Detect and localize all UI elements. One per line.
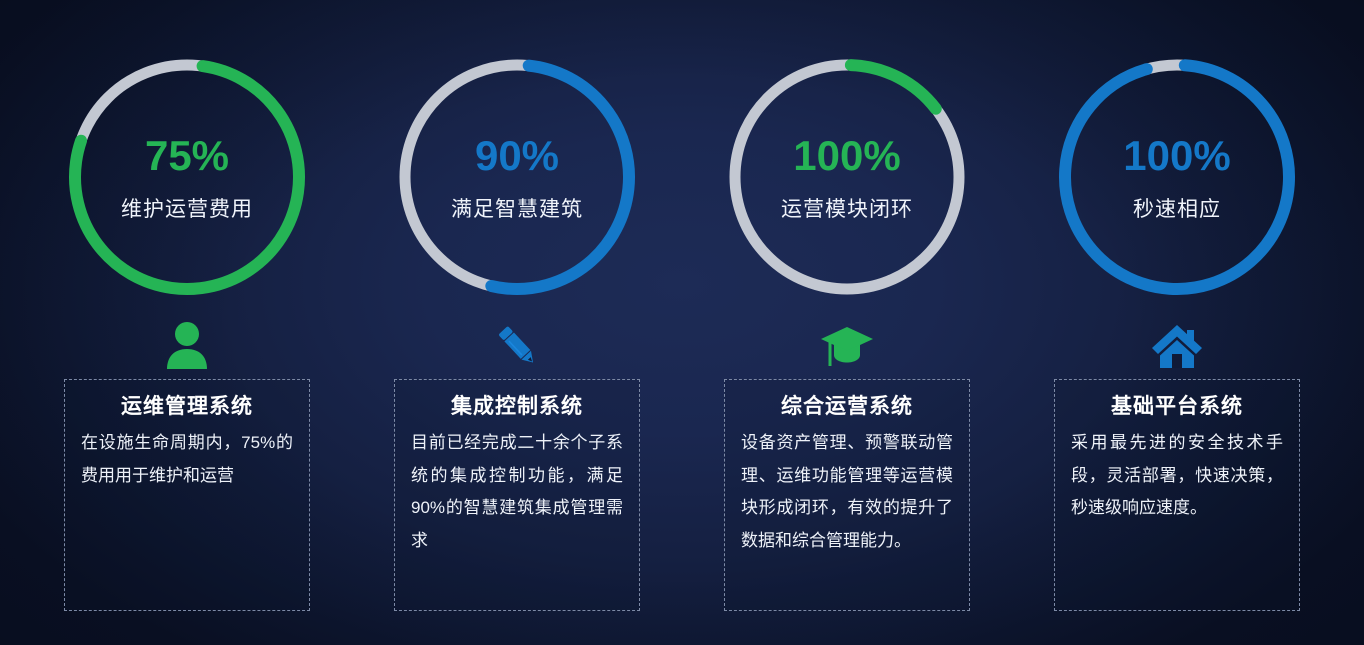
metric-percent-value: 100%: [793, 135, 900, 177]
user-icon: [164, 315, 210, 377]
info-card-comprehensive-operations: 综合运营系统 设备资产管理、预警联动管理、运维功能管理等运营模块形成闭环，有效的…: [724, 379, 970, 611]
donut-chart-comprehensive-operations: 100% 运营模块闭环: [723, 53, 971, 301]
metric-column-base-platform: 100% 秒速相应 基础平台系统 采用最先进的安全技术手段，灵活部署，快速决策，…: [1048, 0, 1306, 645]
metric-label: 满足智慧建筑: [451, 199, 583, 220]
info-card-title: 运维管理系统: [81, 394, 293, 419]
donut-center-content: 100% 运营模块闭环: [723, 53, 971, 301]
info-card-ops-maintenance: 运维管理系统 在设施生命周期内，75%的费用用于维护和运营: [64, 379, 310, 611]
donut-chart-base-platform: 100% 秒速相应: [1053, 53, 1301, 301]
pencil-icon: [492, 315, 542, 377]
metric-column-ops-maintenance: 75% 维护运营费用 运维管理系统 在设施生命周期内，75%的费用用于维护和运营: [58, 0, 316, 645]
donut-center-content: 75% 维护运营费用: [63, 53, 311, 301]
info-card-body: 设备资产管理、预警联动管理、运维功能管理等运营模块形成闭环，有效的提升了数据和综…: [741, 427, 953, 558]
info-card-body: 采用最先进的安全技术手段，灵活部署，快速决策，秒速级响应速度。: [1071, 427, 1283, 525]
metric-columns-container: 75% 维护运营费用 运维管理系统 在设施生命周期内，75%的费用用于维护和运营…: [0, 0, 1364, 645]
metric-column-comprehensive-operations: 100% 运营模块闭环 综合运营系统 设备资产管理、预警联动管理、运维功能管理等…: [718, 0, 976, 645]
info-card-body: 在设施生命周期内，75%的费用用于维护和运营: [81, 427, 293, 492]
metric-column-integrated-control: 90% 满足智慧建筑 集成控制系统 目前已经完成二十余个子系统的集成控制功能，满…: [388, 0, 646, 645]
info-card-title: 基础平台系统: [1071, 394, 1283, 419]
donut-center-content: 90% 满足智慧建筑: [393, 53, 641, 301]
info-card-base-platform: 基础平台系统 采用最先进的安全技术手段，灵活部署，快速决策，秒速级响应速度。: [1054, 379, 1300, 611]
metric-label: 运营模块闭环: [781, 199, 913, 220]
info-card-title: 集成控制系统: [411, 394, 623, 419]
metric-percent-value: 90%: [475, 135, 559, 177]
metric-percent-value: 100%: [1123, 135, 1230, 177]
home-icon: [1151, 315, 1203, 377]
metric-label: 秒速相应: [1133, 199, 1221, 220]
donut-chart-ops-maintenance: 75% 维护运营费用: [63, 53, 311, 301]
donut-chart-integrated-control: 90% 满足智慧建筑: [393, 53, 641, 301]
donut-center-content: 100% 秒速相应: [1053, 53, 1301, 301]
metric-percent-value: 75%: [145, 135, 229, 177]
info-card-body: 目前已经完成二十余个子系统的集成控制功能，满足90%的智慧建筑集成管理需求: [411, 427, 623, 558]
graduation-cap-icon: [820, 315, 874, 377]
info-card-title: 综合运营系统: [741, 394, 953, 419]
info-card-integrated-control: 集成控制系统 目前已经完成二十余个子系统的集成控制功能，满足90%的智慧建筑集成…: [394, 379, 640, 611]
metric-label: 维护运营费用: [121, 199, 253, 220]
